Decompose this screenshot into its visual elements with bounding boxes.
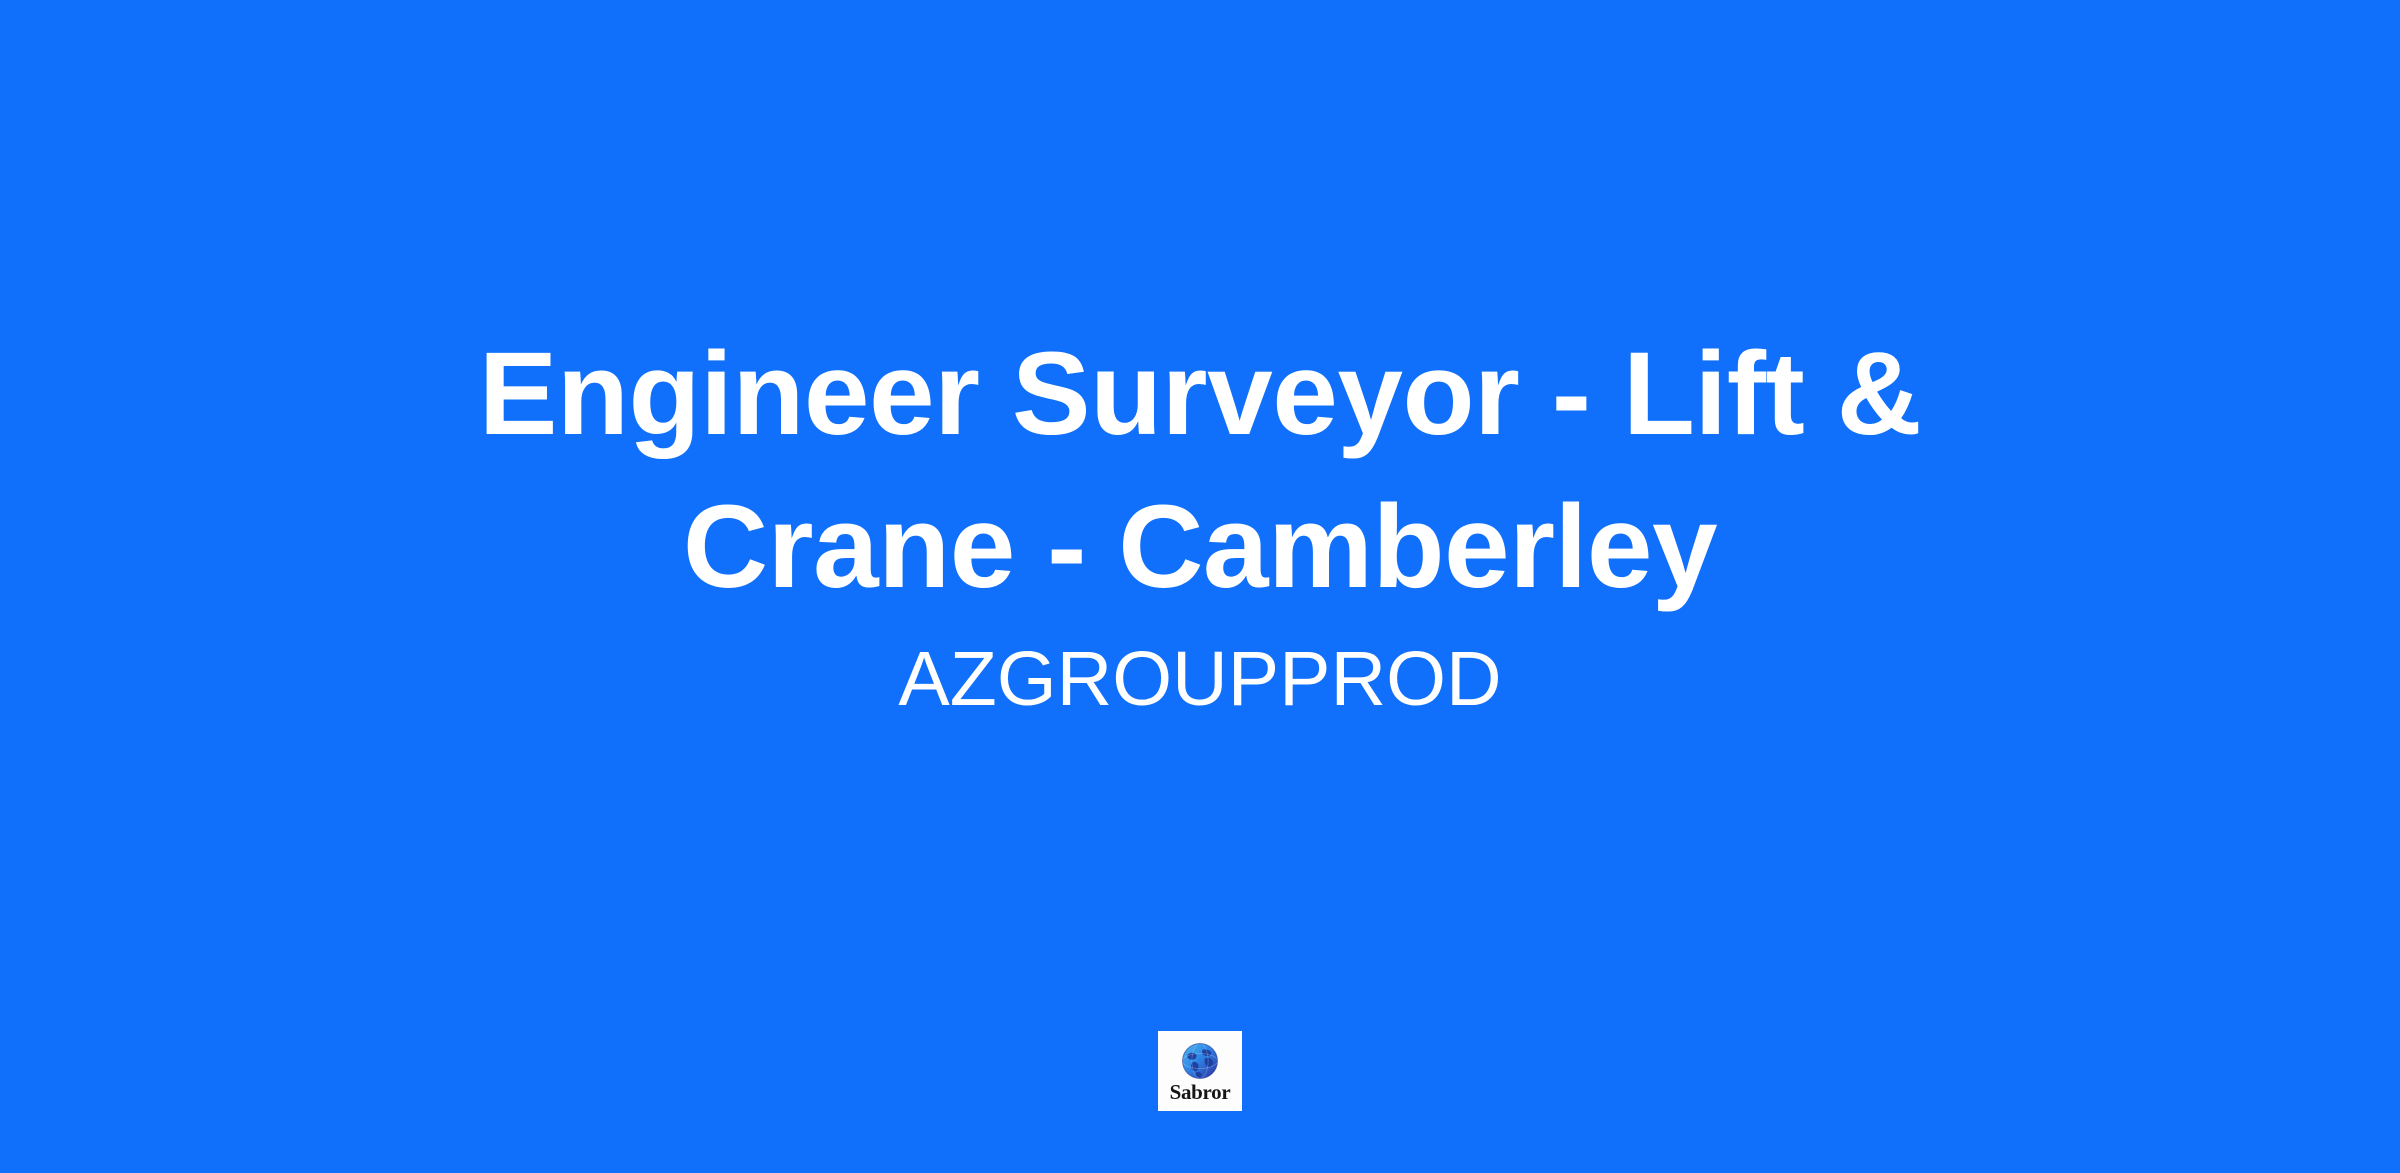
brand-name: Sabror — [1170, 1082, 1231, 1103]
globe-icon — [1180, 1041, 1220, 1081]
brand-logo-badge: Sabror — [1158, 1031, 1242, 1111]
page-title: Engineer Surveyor - Lift & Crane - Cambe… — [460, 318, 1940, 625]
hero-text-block: Engineer Surveyor - Lift & Crane - Cambe… — [0, 0, 2400, 1173]
splash-screen: Engineer Surveyor - Lift & Crane - Cambe… — [0, 0, 2400, 1173]
page-subtitle: AZGROUPPROD — [898, 631, 1501, 727]
